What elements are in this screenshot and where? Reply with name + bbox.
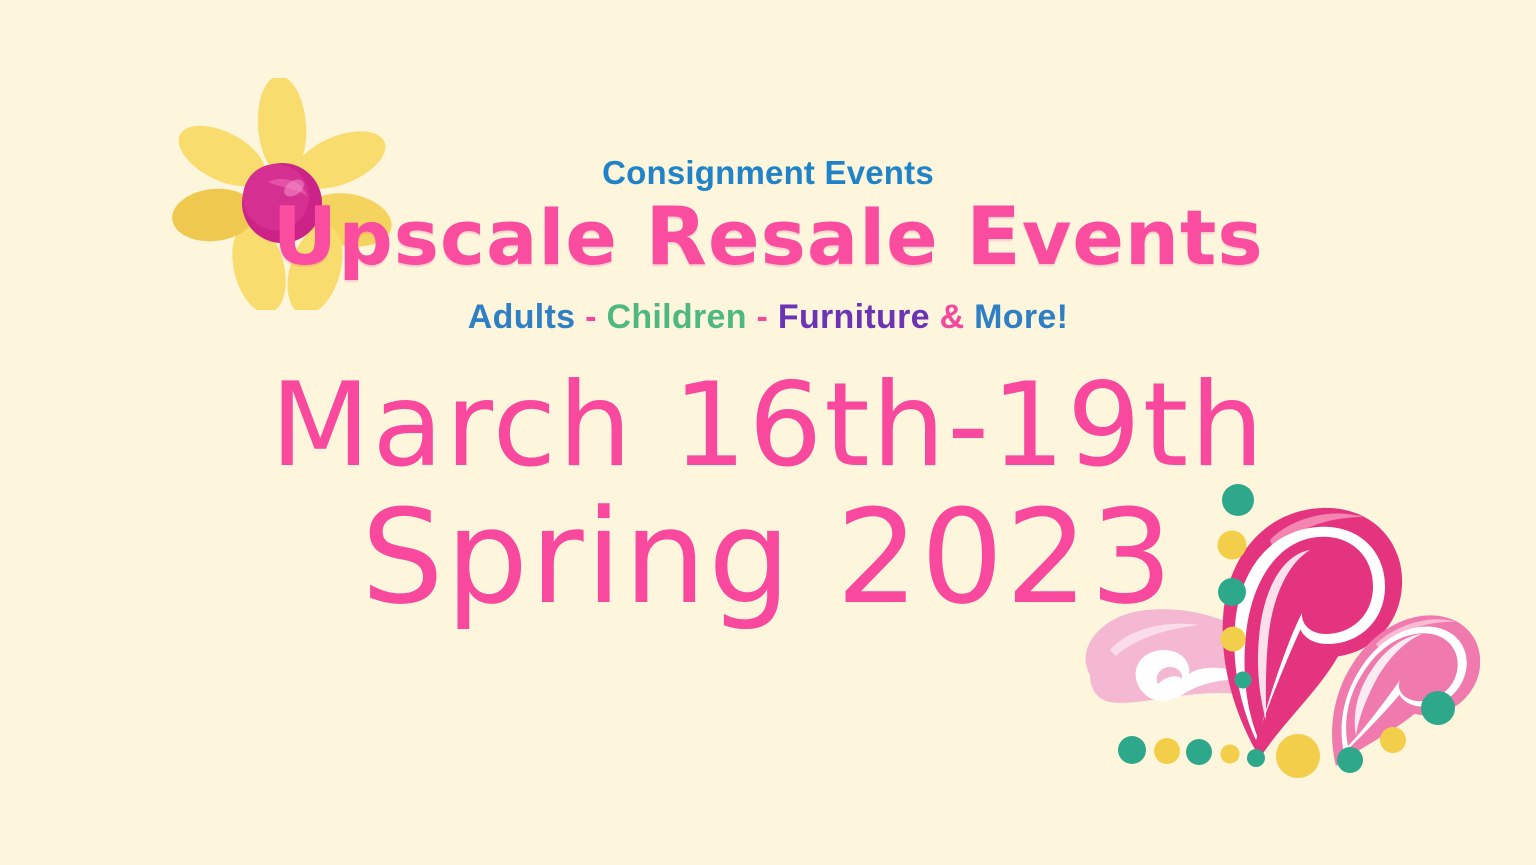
decor-dot [1154,738,1180,764]
decor-dot [1221,627,1246,652]
brand-title-r: R [645,190,708,283]
brand-title-vents: vents [1022,193,1264,282]
decor-dot [1235,672,1252,689]
decor-dot [1337,747,1363,773]
tagline: Adults - Children - Furniture & More! [0,300,1536,334]
decor-dot [1222,484,1254,516]
brand-title-esale: esale [708,193,966,282]
tagline-adults: Adults [468,298,576,336]
decor-dot [1221,745,1240,764]
decor-dot [1118,736,1146,764]
brand-title: Upscale Resale Events [0,195,1536,279]
tagline-dash-2: - [757,298,769,336]
tagline-furniture: Furniture [778,298,930,336]
brand-title-pscale: pscale [338,193,645,282]
decor-dot [1421,691,1455,725]
tagline-ampersand: & [940,298,965,336]
decor-dot [1247,749,1265,767]
tagline-children: Children [606,298,746,336]
paisley-swirl-flourish [1060,420,1480,780]
kicker-consignment-events: Consignment Events [0,156,1536,189]
decor-dot [1276,734,1320,778]
decor-dot [1218,578,1246,606]
tagline-dash-1: - [585,298,597,336]
decor-dot [1218,531,1247,560]
brand-title-e: E [966,190,1022,283]
poster-canvas: Consignment Events Upscale Resale Events… [0,0,1536,865]
brand-title-u: U [272,190,338,283]
bottom-dots [1118,734,1320,778]
tagline-more: More! [974,298,1068,336]
decor-dot [1380,727,1406,753]
decor-dot [1186,739,1212,765]
